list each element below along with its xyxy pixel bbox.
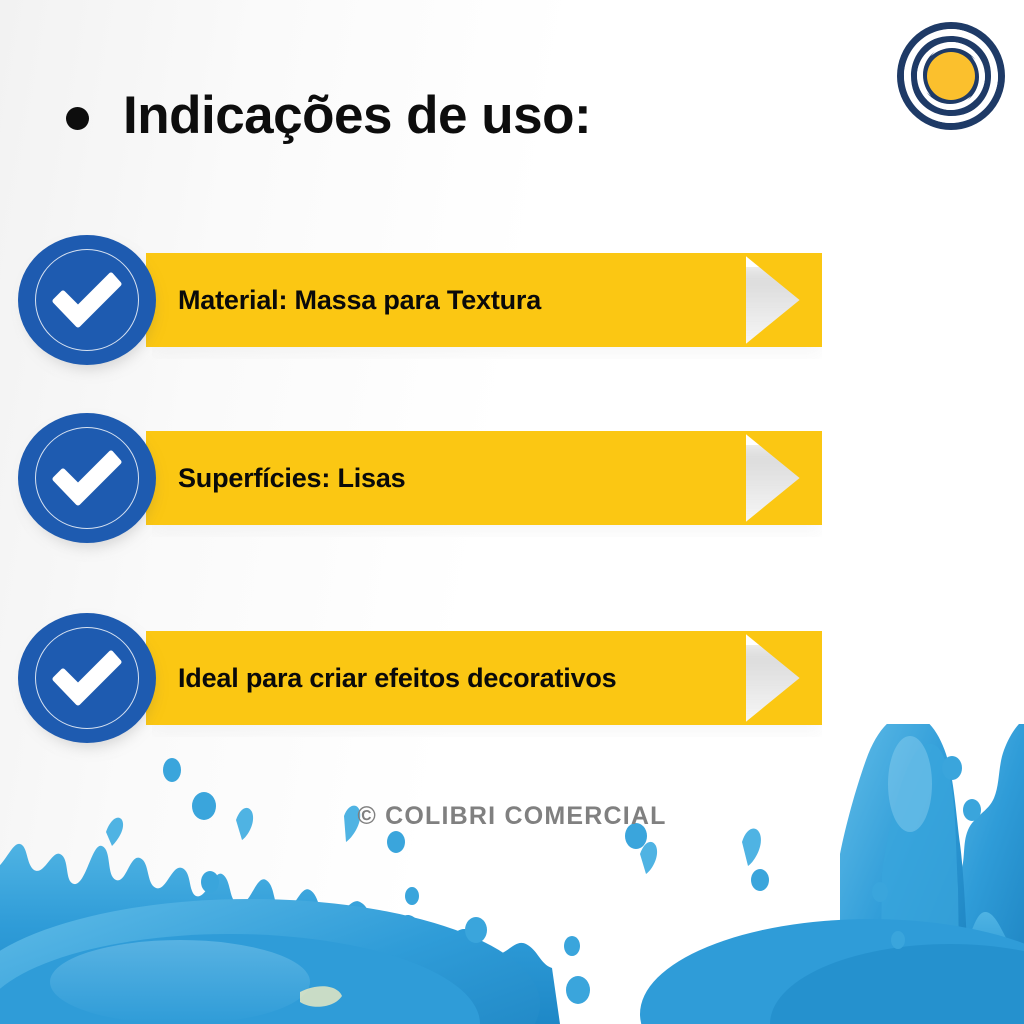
colibri-swirl-logo-icon [893, 18, 1009, 134]
checkmark-icon [47, 265, 127, 335]
page-title-row: Indicações de uso: [66, 88, 591, 144]
blue-paint-splash-graphic [0, 724, 1024, 1024]
list-item-label: Superfícies: Lisas [178, 431, 406, 525]
ribbon-banner: Ideal para criar efeitos decorativos [146, 631, 822, 725]
check-circle-icon [18, 235, 156, 365]
list-item: Superfícies: Lisas [0, 413, 900, 543]
ribbon-banner: Material: Massa para Textura [146, 253, 822, 347]
list-item-label: Material: Massa para Textura [178, 253, 541, 347]
check-circle-icon [18, 413, 156, 543]
ribbon-banner: Superfícies: Lisas [146, 431, 822, 525]
slide-canvas: Indicações de uso: Material: Massa para … [0, 0, 1024, 1024]
checkmark-icon [47, 443, 127, 513]
list-item: Ideal para criar efeitos decorativos [0, 613, 900, 743]
bullet-point-icon [66, 107, 89, 130]
list-item: Material: Massa para Textura [0, 235, 900, 365]
page-title: Indicações de uso: [123, 88, 591, 144]
copyright-watermark: © COLIBRI COMERCIAL [0, 802, 1024, 831]
check-circle-icon [18, 613, 156, 743]
list-item-label: Ideal para criar efeitos decorativos [178, 631, 617, 725]
checkmark-icon [47, 643, 127, 713]
